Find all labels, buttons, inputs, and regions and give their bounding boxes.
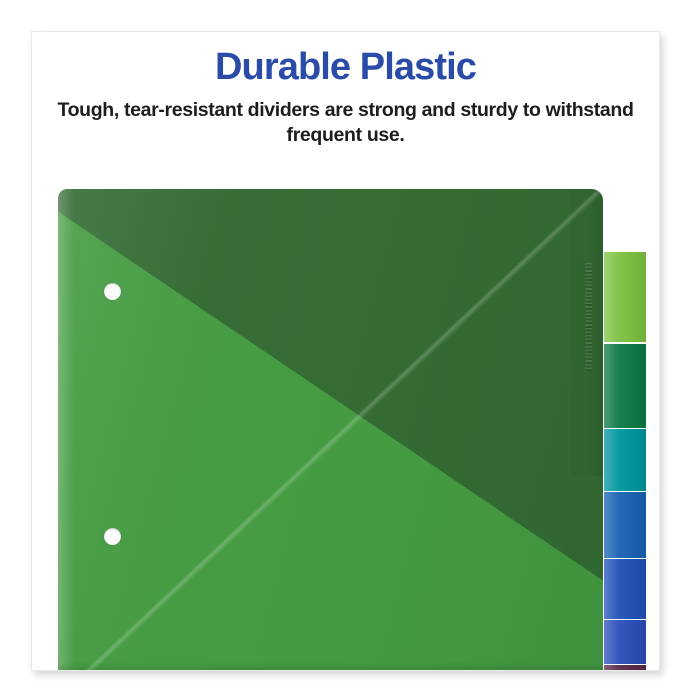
tab-light-green	[604, 252, 646, 342]
tab-teal	[604, 429, 646, 491]
binder-hole-top	[104, 283, 121, 300]
index-tab-stack	[604, 221, 646, 671]
page-title: Durable Plastic	[32, 46, 659, 89]
binder-hole-bottom	[104, 528, 121, 545]
plastic-divider	[58, 189, 603, 671]
tab-blue	[604, 492, 646, 558]
tab-dark-green	[604, 344, 646, 428]
product-image-canvas: Durable Plastic Tough, tear-resistant di…	[0, 0, 700, 700]
page-subtitle: Tough, tear-resistant dividers are stron…	[32, 98, 659, 150]
tab-plum	[604, 665, 646, 671]
tab-royal-blue	[604, 559, 646, 619]
marketing-copy: Durable Plastic Tough, tear-resistant di…	[32, 46, 659, 149]
tab-indigo	[604, 620, 646, 664]
product-card: Durable Plastic Tough, tear-resistant di…	[31, 31, 660, 671]
pocket-rib-texture	[585, 263, 592, 371]
